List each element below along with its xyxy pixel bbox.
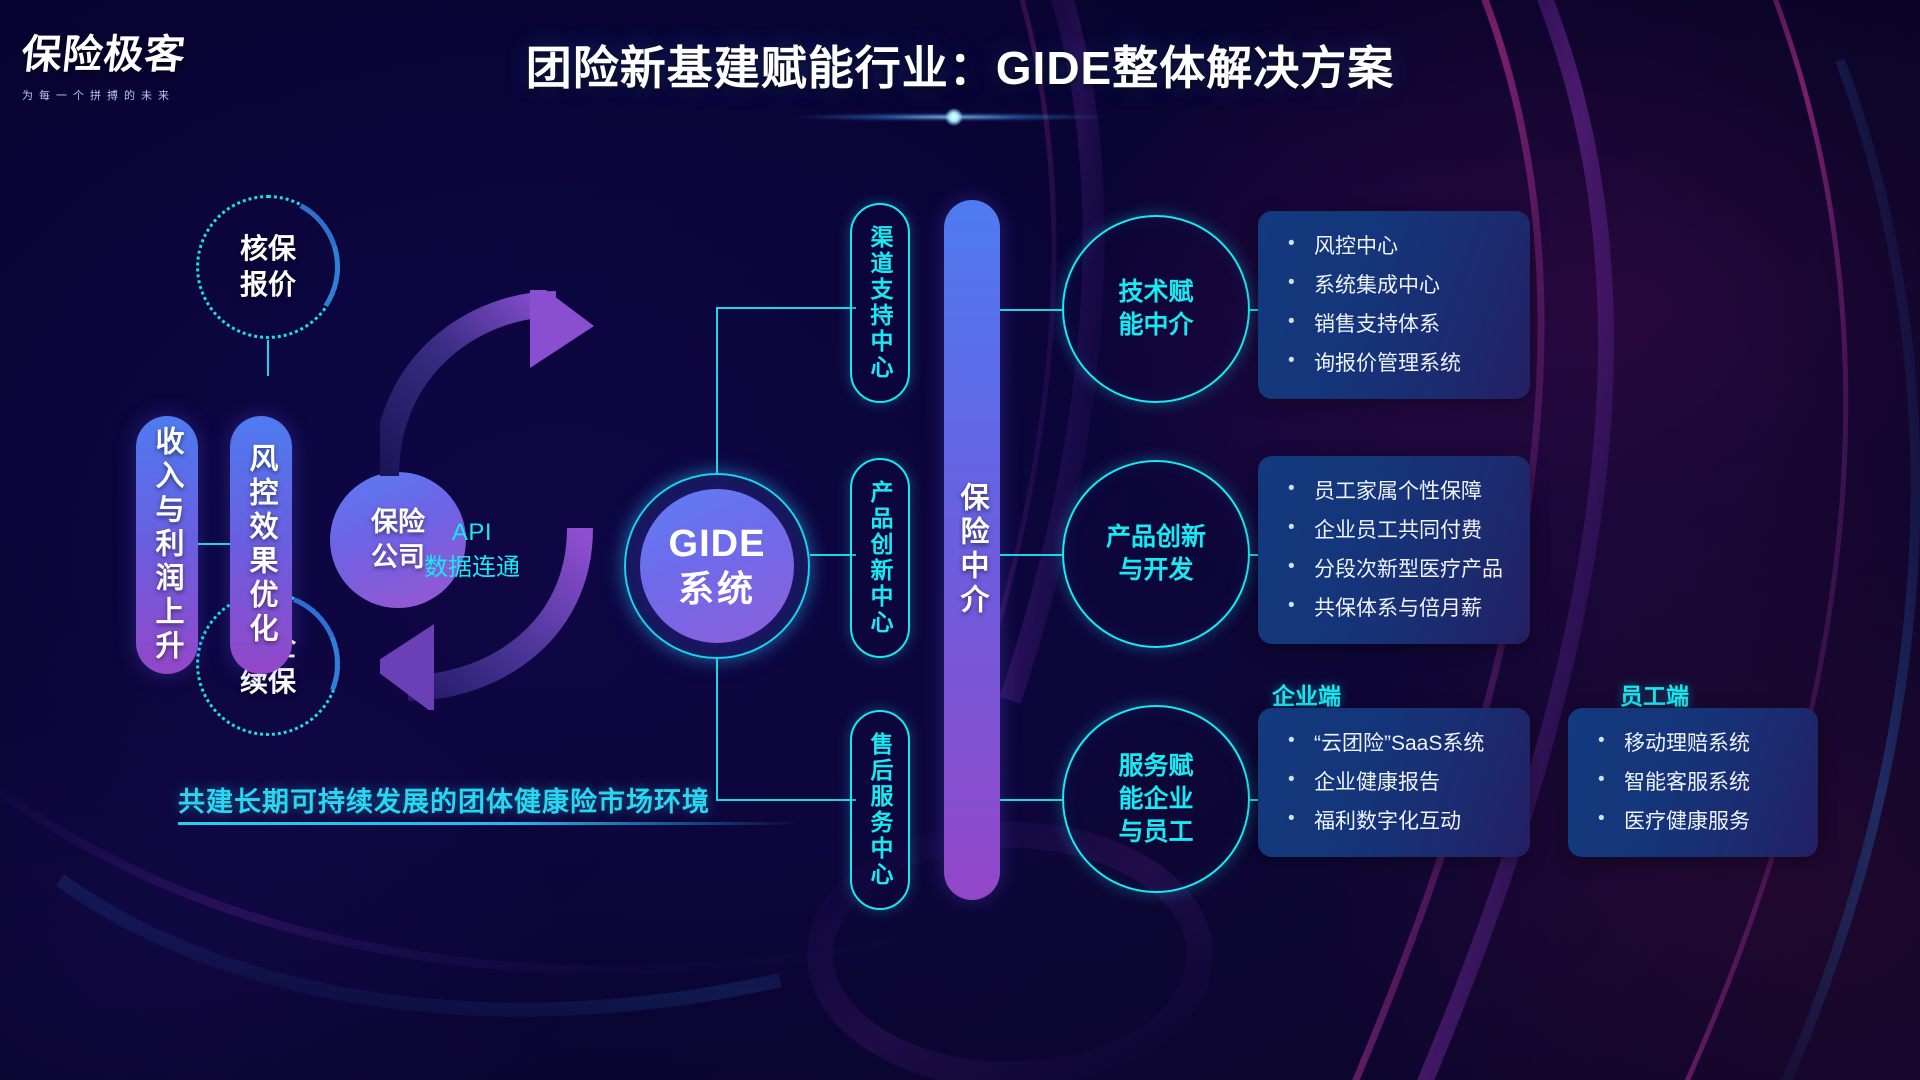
connector-gide-down	[716, 659, 718, 799]
node-product-innovation-dev-line1: 产品创新	[1106, 521, 1206, 554]
node-service-empower-enterprise-line2: 能企业	[1118, 783, 1193, 816]
label-api-en: API	[392, 516, 552, 551]
node-service-empower-enterprise-line1: 服务赋	[1118, 750, 1193, 783]
pill-after-sales-center: 售后服务中心	[850, 710, 910, 910]
node-service-empower-enterprise: 服务赋 能企业 与员工	[1062, 705, 1250, 893]
connector-broker-r1	[1000, 309, 1062, 311]
panel-employee-side: 移动理赔系统 智能客服系统 医疗健康服务	[1568, 708, 1818, 857]
node-gide-system: GIDE 系统	[640, 489, 794, 643]
pill-after-sales-center-label: 售后服务中心	[863, 732, 897, 888]
pill-channel-support-center-label: 渠道支持中心	[863, 225, 897, 381]
node-tech-empower-broker: 技术赋 能中介	[1062, 215, 1250, 403]
label-api-cn: 数据连通	[424, 554, 520, 581]
list-item: 系统集成中心	[1280, 266, 1512, 305]
pill-revenue-profit-label: 收入与利润上升	[146, 426, 188, 664]
panel-product-capabilities: 员工家属个性保障 企业员工共同付费 分段次新型医疗产品 共保体系与倍月薪	[1258, 456, 1530, 644]
panel-enterprise-header: 企业端	[1272, 677, 1341, 711]
connector-uw-to-pill	[267, 340, 269, 376]
pill-insurance-broker-label: 保险中介	[951, 482, 993, 618]
connector-broker-r2	[1000, 554, 1062, 556]
list-item: 福利数字化互动	[1280, 802, 1512, 841]
pill-product-innovation-center-label: 产品创新中心	[863, 480, 897, 636]
node-product-innovation-dev-line2: 与开发	[1118, 554, 1193, 587]
list-item: 移动理赔系统	[1590, 724, 1800, 763]
list-item: 共保体系与倍月薪	[1280, 589, 1512, 628]
title-spark-icon	[945, 108, 963, 126]
node-gide-line1: GIDE	[669, 521, 766, 567]
node-service-empower-enterprise-line3: 与员工	[1118, 816, 1193, 849]
cycle-arrows	[380, 290, 680, 710]
label-api-connection: API 数据连通	[392, 516, 552, 586]
pill-risk-control-label: 风控效果优化	[240, 443, 282, 647]
connector-broker-r3	[1000, 799, 1062, 801]
list-item: “云团险”SaaS系统	[1280, 724, 1512, 763]
connector-pills	[198, 543, 230, 545]
list-item: 医疗健康服务	[1590, 802, 1800, 841]
list-item: 销售支持体系	[1280, 305, 1512, 344]
list-item: 询报价管理系统	[1280, 344, 1512, 383]
panel-tech-capabilities-list: 风控中心 系统集成中心 销售支持体系 询报价管理系统	[1280, 227, 1512, 383]
connector-gide-up-h	[716, 307, 856, 309]
list-item: 风控中心	[1280, 227, 1512, 266]
node-tech-empower-broker-line1: 技术赋	[1118, 276, 1193, 309]
panel-employee-header: 员工端	[1620, 677, 1689, 711]
list-item: 分段次新型医疗产品	[1280, 550, 1512, 589]
panel-employee-side-list: 移动理赔系统 智能客服系统 医疗健康服务	[1590, 724, 1800, 841]
list-item: 企业健康报告	[1280, 763, 1512, 802]
panel-enterprise-side-list: “云团险”SaaS系统 企业健康报告 福利数字化互动	[1280, 724, 1512, 841]
pill-revenue-profit: 收入与利润上升	[136, 416, 198, 674]
list-item: 智能客服系统	[1590, 763, 1800, 802]
list-item: 企业员工共同付费	[1280, 511, 1512, 550]
footer-note: 共建长期可持续发展的团体健康险市场环境	[178, 780, 798, 819]
page-title: 团险新基建赋能行业：GIDE整体解决方案	[0, 32, 1920, 98]
pill-risk-control: 风控效果优化	[230, 416, 292, 674]
panel-enterprise-side: “云团险”SaaS系统 企业健康报告 福利数字化互动	[1258, 708, 1530, 857]
pill-insurance-broker: 保险中介	[944, 200, 1000, 900]
footer-underline	[178, 822, 798, 825]
pill-product-innovation-center: 产品创新中心	[850, 458, 910, 658]
list-item: 员工家属个性保障	[1280, 472, 1512, 511]
node-gide-line2: 系统	[678, 567, 756, 611]
node-product-innovation-dev: 产品创新 与开发	[1062, 460, 1250, 648]
node-tech-empower-broker-line2: 能中介	[1118, 309, 1193, 342]
slide-canvas: 保险极客 为每一个拼搏的未来 团险新基建赋能行业：GIDE整体解决方案 核保 报…	[0, 0, 1920, 1080]
pill-channel-support-center: 渠道支持中心	[850, 203, 910, 403]
panel-product-capabilities-list: 员工家属个性保障 企业员工共同付费 分段次新型医疗产品 共保体系与倍月薪	[1280, 472, 1512, 628]
panel-tech-capabilities: 风控中心 系统集成中心 销售支持体系 询报价管理系统	[1258, 211, 1530, 399]
connector-gide-up	[716, 307, 718, 473]
